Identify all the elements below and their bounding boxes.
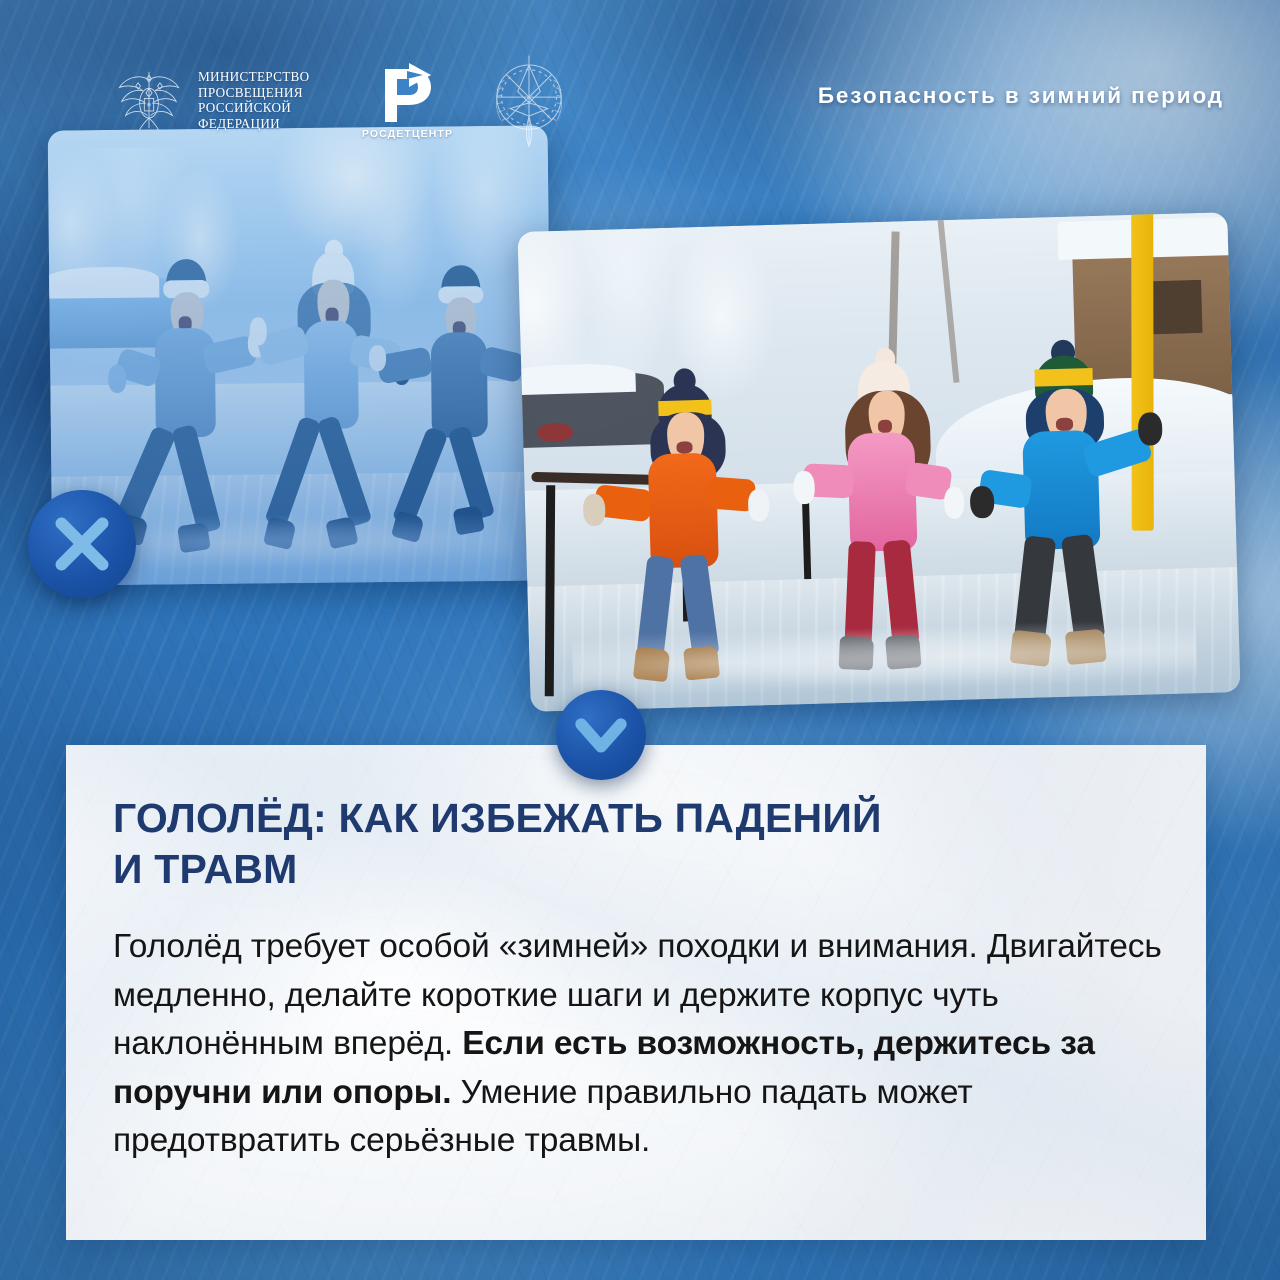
rosdetcentr-logo: РОСДЕТЦЕНТР [355,61,459,140]
check-chevron-badge [556,690,646,780]
photo-correct-scene [517,212,1240,712]
rosdetcentr-r-arrow-mark [379,61,435,123]
logo-group: МИНИСТЕРСТВО ПРОСВЕЩЕНИЯ РОССИЙСКОЙ ФЕДЕ… [110,48,577,152]
header: МИНИСТЕРСТВО ПРОСВЕЩЕНИЯ РОССИЙСКОЙ ФЕДЕ… [0,0,1280,160]
cross-x-badge [28,490,136,598]
card-title: ГОЛОЛЁД: КАК ИЗБЕЖАТЬ ПАДЕНИЙ И ТРАВМ [113,793,1166,895]
navigator-star-wreath-emblem [481,48,577,152]
ministry-line-1: МИНИСТЕРСТВО [198,69,309,85]
poster-root: МИНИСТЕРСТВО ПРОСВЕЩЕНИЯ РОССИЙСКОЙ ФЕДЕ… [0,0,1280,1280]
card-body: Гололёд требует особой «зимней» походки … [113,923,1166,1166]
ministry-name: МИНИСТЕРСТВО ПРОСВЕЩЕНИЯ РОССИЙСКОЙ ФЕДЕ… [198,69,309,131]
photo-correct-behaviour: Трое детей осторожно идут по льду, держа… [517,212,1240,712]
rosdetcentr-name: РОСДЕТЦЕНТР [355,128,459,140]
check-chevron-icon [556,690,646,780]
ministry-line-2: ПРОСВЕЩЕНИЯ [198,85,309,101]
advice-card: ГОЛОЛЁД: КАК ИЗБЕЖАТЬ ПАДЕНИЙ И ТРАВМ Го… [66,745,1206,1240]
russian-federation-double-headed-eagle-emblem [110,61,188,139]
ministry-line-4: ФЕДЕРАЦИИ [198,116,309,132]
ministry-line-3: РОССИЙСКОЙ [198,100,309,116]
cross-x-icon [28,490,136,598]
campaign-title: Безопасность в зимний период [818,83,1224,109]
